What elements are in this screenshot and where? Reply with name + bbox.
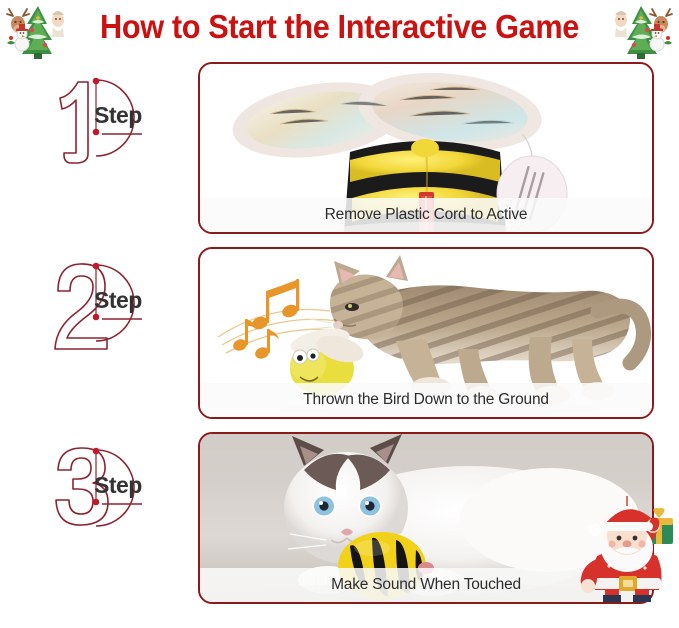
step-caption-bar-2: Thrown the Bird Down to the Ground: [200, 383, 652, 417]
step-caption-2: Thrown the Bird Down to the Ground: [303, 391, 549, 409]
how-to-start-infographic: How to Start the Interactive Game: [0, 0, 679, 628]
step-badge-1: Step: [50, 70, 170, 170]
step-caption-3: Make Sound When Touched: [331, 576, 521, 594]
step-badge-3: Step: [50, 440, 170, 540]
step-label-2: Step: [94, 287, 142, 314]
step-label-3: Step: [94, 472, 142, 499]
step-row-3: Step: [0, 428, 679, 600]
christmas-decoration-right-icon: [603, 0, 677, 62]
page-title: How to Start the Interactive Game: [24, 8, 655, 46]
step-row-1: Step: [0, 58, 679, 230]
santa-claus-icon: [571, 496, 679, 602]
step-label-1: Step: [94, 102, 142, 129]
step-caption-bar-1: Remove Plastic Cord to Active: [200, 198, 652, 232]
step-card-2[interactable]: Thrown the Bird Down to the Ground: [198, 247, 654, 419]
step-caption-1: Remove Plastic Cord to Active: [325, 206, 528, 224]
page-header: How to Start the Interactive Game: [0, 0, 679, 62]
step-card-1[interactable]: Remove Plastic Cord to Active: [198, 62, 654, 234]
step-badge-2: Step: [50, 255, 170, 355]
step-row-2: Step: [0, 243, 679, 415]
